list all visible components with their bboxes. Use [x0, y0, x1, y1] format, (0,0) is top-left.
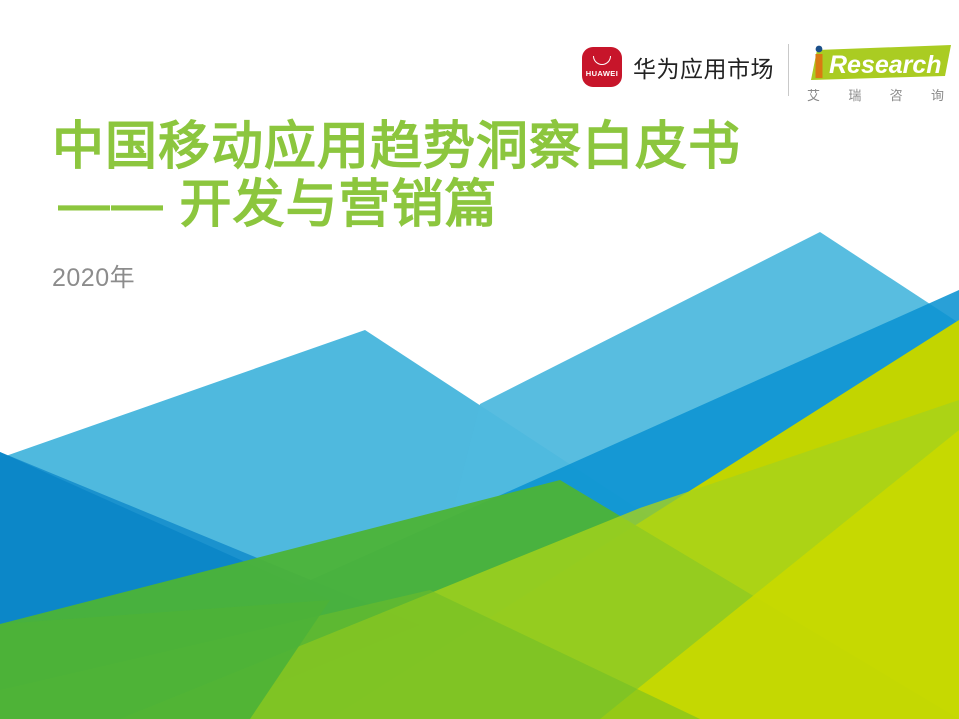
cover-headline-block: 中国移动应用趋势洞察白皮书 —— 开发与营销篇 2020年: [52, 118, 741, 294]
page-title-line-2: —— 开发与营销篇: [52, 176, 741, 234]
page-title-line-1: 中国移动应用趋势洞察白皮书: [52, 118, 741, 176]
huawei-bag-smile-shape: [593, 56, 611, 65]
iresearch-char-1: 艾: [807, 85, 821, 104]
huawei-logo-lockup: HUAWEI 华为应用市场: [582, 42, 788, 92]
huawei-appgallery-icon: HUAWEI: [582, 47, 622, 87]
cover-slide: HUAWEI 华为应用市场 Research 艾 瑞 咨 询: [0, 0, 959, 719]
huawei-appgallery-label: 华为应用市场: [633, 50, 774, 84]
cover-year-label: 2020年: [52, 258, 741, 294]
logo-divider: [788, 44, 789, 96]
brand-logo-bar: HUAWEI 华为应用市场 Research 艾 瑞 咨 询: [582, 42, 953, 108]
svg-text:Research: Research: [829, 51, 942, 79]
iresearch-char-3: 咨: [890, 85, 904, 104]
huawei-wordmark: HUAWEI: [582, 69, 622, 78]
iresearch-char-4: 询: [931, 85, 945, 104]
iresearch-char-2: 瑞: [848, 85, 862, 104]
iresearch-logo-lockup: Research 艾 瑞 咨 询: [803, 42, 953, 104]
iresearch-logo-icon: Research: [803, 42, 953, 84]
iresearch-chinese-name: 艾 瑞 咨 询: [803, 85, 953, 104]
